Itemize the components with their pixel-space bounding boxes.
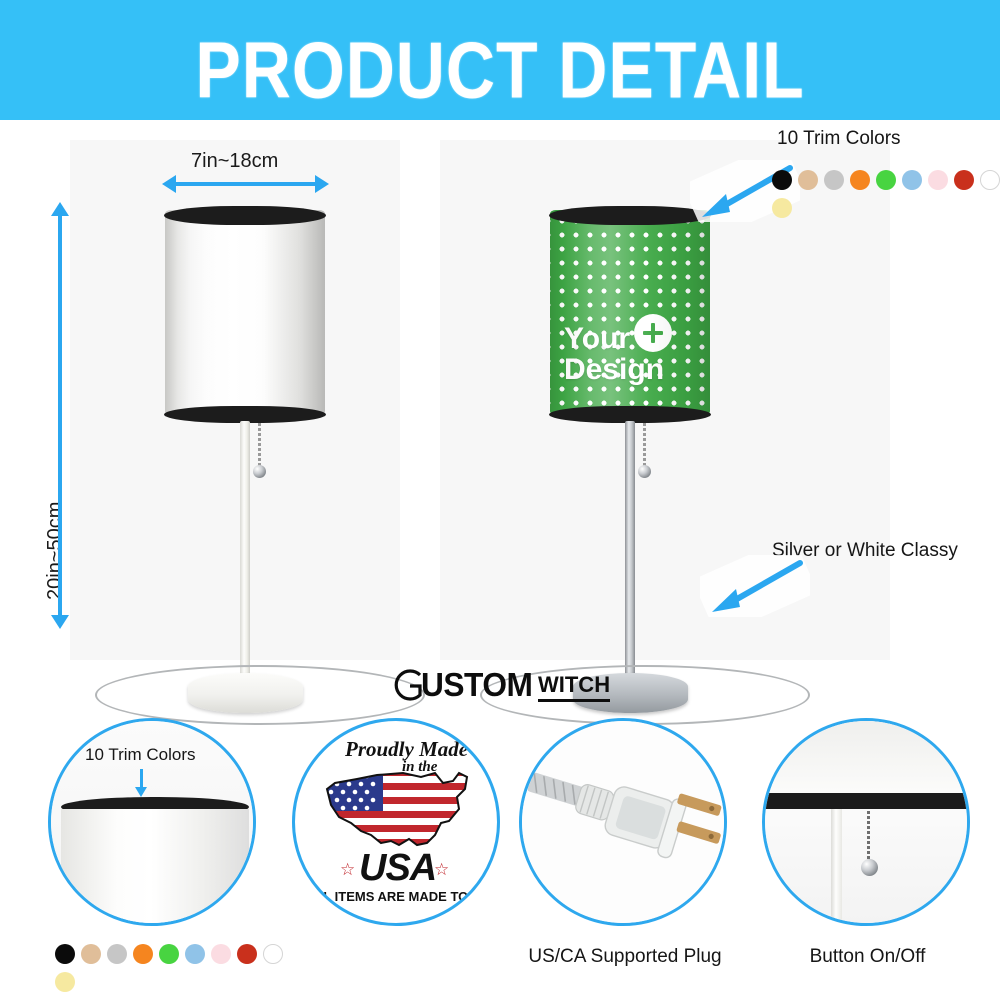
switch-shade-trim-icon <box>762 793 970 809</box>
page-title: PRODUCT DETAIL <box>40 24 960 116</box>
lamp-shade-custom: Your Design <box>550 210 710 415</box>
brand-name: USTOM <box>421 668 532 702</box>
product-detail-page: PRODUCT DETAIL 7in~18cm 20in~50cm <box>0 0 1000 1000</box>
shade-trim-top-plain <box>164 206 326 225</box>
swatch-pink[interactable] <box>928 170 948 190</box>
feature-card-trim-colors: 10 Trim Colors <box>48 718 256 926</box>
brand-logo: USTOM WITCH <box>0 668 1000 707</box>
height-dimension-label: 20in~50cm <box>44 502 67 600</box>
bottom-trim-swatch-row-2 <box>55 972 75 992</box>
swatch-light-blue[interactable] <box>902 170 922 190</box>
bottom-swatch-yellow[interactable] <box>55 972 75 992</box>
bottom-trim-swatch-row-1 <box>55 944 283 964</box>
width-dimension-label: 7in~18cm <box>191 150 278 173</box>
swatch-yellow[interactable] <box>772 198 792 218</box>
trim-colors-callout-label: 10 Trim Colors <box>777 128 901 150</box>
brand-c-mark-icon <box>390 668 424 702</box>
width-arrow-left <box>162 175 176 193</box>
swatch-green[interactable] <box>876 170 896 190</box>
feature-card-plug <box>519 718 727 926</box>
trim-swatch-row-2 <box>772 198 792 218</box>
lamp-shade-plain <box>165 210 325 415</box>
pull-chain-bead-plain[interactable] <box>253 465 266 478</box>
design-line-1: Your <box>564 322 630 355</box>
usa-badge-big: USA <box>359 847 436 890</box>
feature-card-switch <box>762 718 970 926</box>
trim-colors-inner-label: 10 Trim Colors <box>85 745 196 765</box>
swatch-black[interactable] <box>772 170 792 190</box>
swatch-white[interactable] <box>980 170 1000 190</box>
bottom-swatch-black[interactable] <box>55 944 75 964</box>
swatch-gray[interactable] <box>824 170 844 190</box>
height-arrow-top <box>51 202 69 216</box>
lamp-pole-custom <box>625 421 635 697</box>
usa-star-right: ☆ <box>434 860 449 880</box>
caption-plug: US/CA Supported Plug <box>500 946 750 968</box>
bottom-swatch-red[interactable] <box>237 944 257 964</box>
swatch-red[interactable] <box>954 170 974 190</box>
height-dimension-line <box>58 215 62 615</box>
switch-pull-chain-bead[interactable] <box>861 859 878 876</box>
main-stage: 7in~18cm 20in~50cm <box>0 120 1000 660</box>
trim-swatch-row-1 <box>772 170 1000 190</box>
height-arrow-bottom <box>51 615 69 629</box>
width-arrow-right <box>315 175 329 193</box>
bottom-swatch-white[interactable] <box>263 944 283 964</box>
bottom-swatch-light-blue[interactable] <box>185 944 205 964</box>
swatch-orange[interactable] <box>850 170 870 190</box>
shade-trim-top-custom <box>549 206 711 225</box>
pull-chain-bead-custom[interactable] <box>638 465 651 478</box>
shade-surface-plain <box>165 210 325 415</box>
swatch-tan[interactable] <box>798 170 818 190</box>
feature-card-made-in-usa: Proudly Made in the <box>292 718 500 926</box>
pull-chain-custom[interactable] <box>643 423 646 468</box>
design-line-2: Design <box>564 353 664 386</box>
lamp-plain <box>150 195 370 665</box>
mini-shade-body-icon <box>61 809 249 926</box>
base-finish-callout-arrow <box>700 555 810 617</box>
switch-lamp-pole <box>831 809 842 926</box>
trim-colors-inner-arrow-head <box>135 787 147 797</box>
trim-colors-inner-arrow-line <box>140 769 143 789</box>
bottom-swatch-gray[interactable] <box>107 944 127 964</box>
usa-badge-tagline: ALL ITEMS ARE MADE TO ORDER! <box>306 889 500 904</box>
power-plug-icon <box>528 769 727 889</box>
usa-star-left: ☆ <box>340 860 355 880</box>
caption-switch: Button On/Off <box>745 946 990 968</box>
bottom-swatch-orange[interactable] <box>133 944 153 964</box>
brand-suffix: WITCH <box>538 672 610 702</box>
plus-icon <box>634 314 672 352</box>
bottom-swatch-green[interactable] <box>159 944 179 964</box>
bottom-swatch-tan[interactable] <box>81 944 101 964</box>
bottom-swatch-pink[interactable] <box>211 944 231 964</box>
pull-chain-plain[interactable] <box>258 423 261 468</box>
switch-pull-chain[interactable] <box>867 811 870 863</box>
lamp-pole-plain <box>240 421 250 697</box>
width-dimension-line <box>175 182 315 186</box>
